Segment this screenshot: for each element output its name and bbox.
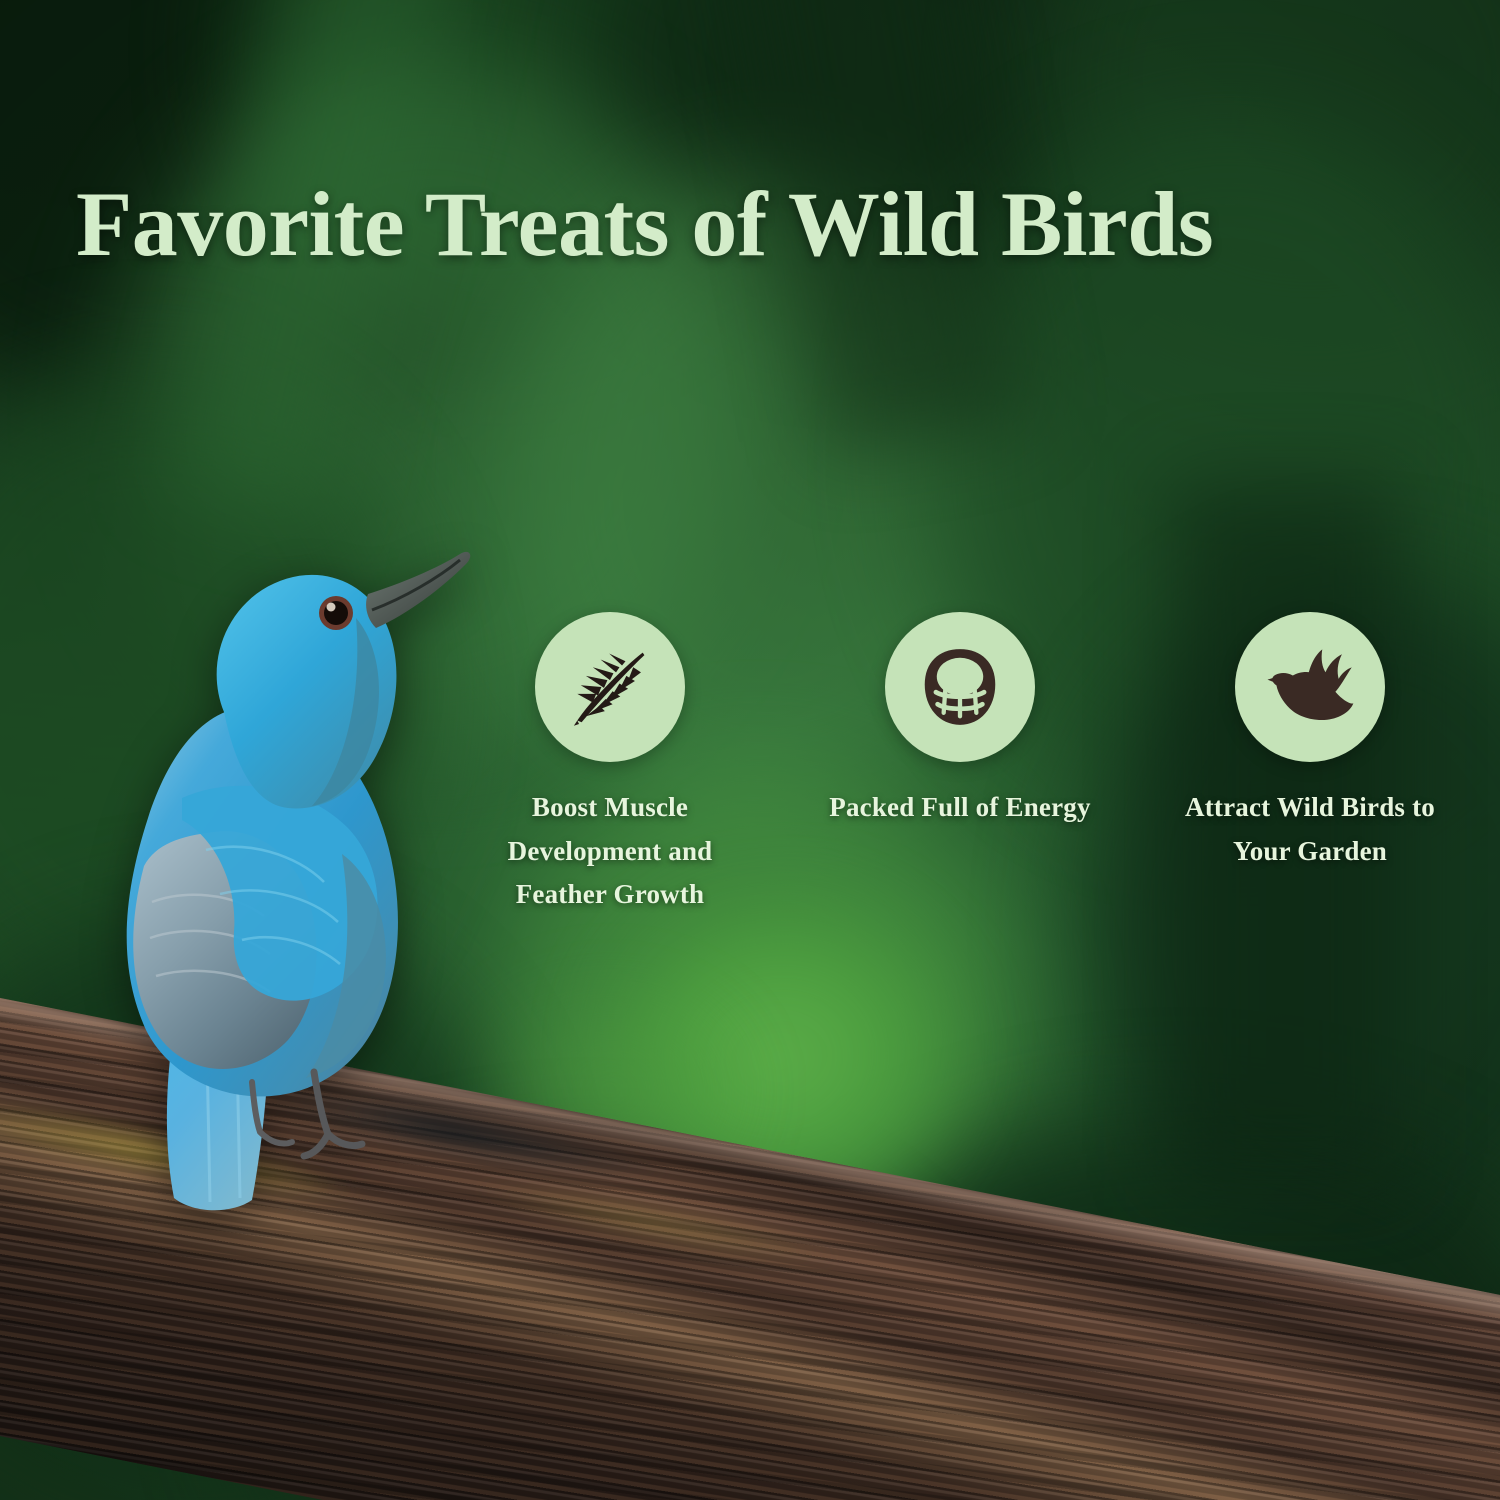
feature-list: Boost Muscle Development and Feather Gro…: [460, 612, 1460, 922]
feature-badge: [1235, 612, 1385, 762]
suet-ball-feeder-icon: [917, 644, 1003, 730]
feature-item-feather: Boost Muscle Development and Feather Gro…: [460, 612, 760, 917]
feature-label: Boost Muscle Development and Feather Gro…: [460, 786, 760, 917]
feather-icon: [567, 644, 653, 730]
feature-label: Packed Full of Energy: [800, 786, 1120, 830]
blue-bird: [56, 498, 476, 1218]
bird-foot-right: [304, 1072, 362, 1156]
feature-badge: [535, 612, 685, 762]
feature-badge: [885, 612, 1035, 762]
feature-item-attract: Attract Wild Birds to Your Garden: [1160, 612, 1460, 873]
flying-dove-icon: [1265, 644, 1355, 730]
feature-label: Attract Wild Birds to Your Garden: [1160, 786, 1460, 873]
product-infographic: Favorite Treats of Wild Birds: [0, 0, 1500, 1500]
feature-item-energy: Packed Full of Energy: [810, 612, 1110, 830]
page-title: Favorite Treats of Wild Birds: [76, 178, 1446, 270]
